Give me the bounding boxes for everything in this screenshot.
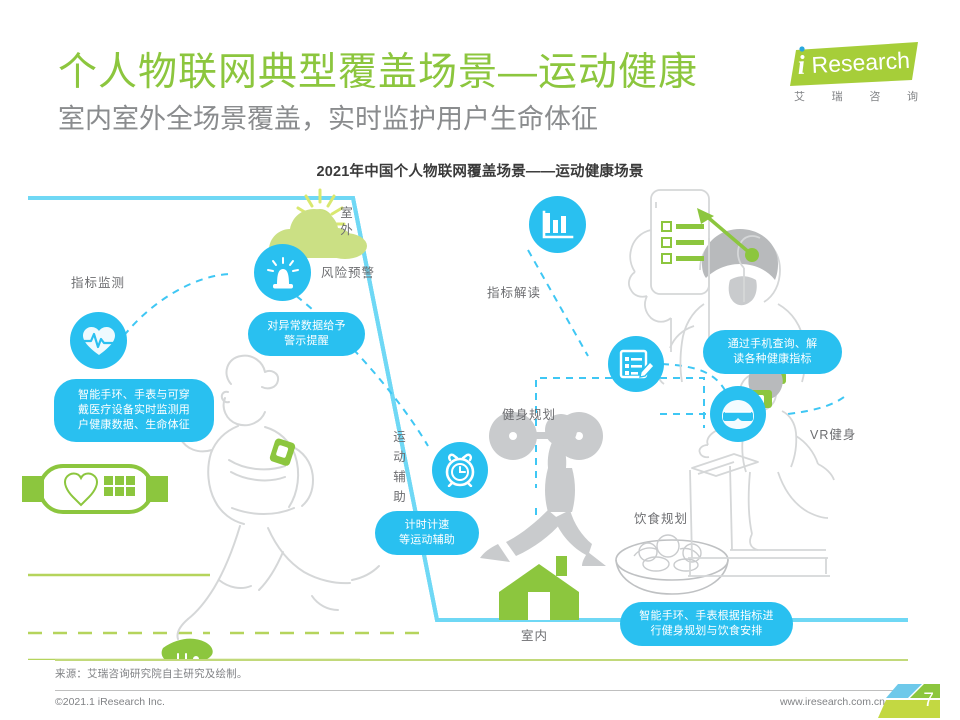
logo-cn-char-2: 瑞 [832,88,843,104]
callout-assist-text: 计时计速 等运动辅助 [399,518,455,548]
copyright-text: ©2021.1 iResearch Inc. [55,696,165,708]
label-vr-fitness: VR健身 [810,424,856,443]
alarm-light-icon [266,257,300,289]
bar-chart-icon [542,210,574,240]
label-zone-indoor: 室内 [521,625,548,644]
page-title: 个人物联网典型覆盖场景—运动健康 [58,50,698,96]
heart-pulse-icon [82,326,116,356]
track-lines [28,575,420,660]
logo-cn-char-3: 咨 [869,88,880,104]
page-header: 个人物联网典型覆盖场景—运动健康 室内室外全场景覆盖，实时监护用户生命体征 20… [0,0,960,165]
node-metric-interpretation[interactable] [529,196,586,253]
node-exercise-assist[interactable] [432,442,488,498]
logo-cn-char-4: 询 [907,88,918,104]
page-number: 7 [923,690,934,712]
weightlifter-figure [480,412,606,566]
label-zone-outdoor: 室 外 [338,205,356,239]
node-vr-fitness[interactable] [710,386,766,442]
label-exercise-assist: 运 动 辅 助 [389,430,406,510]
logo-chinese-name: 艾 瑞 咨 询 [794,88,918,104]
stopwatch-icon [443,453,477,487]
label-vitals-monitoring: 指标监测 [71,272,125,291]
callout-plan-note[interactable]: 智能手环、手表根据指标进 行健身规划与饮食安排 [620,602,793,646]
connector-plan-diet [660,378,704,428]
page-subtitle: 室内室外全场景覆盖，实时监护用户生命体征 [58,102,598,136]
label-fitness-planning: 健身规划 [502,404,556,423]
callout-assist-note[interactable]: 计时计速 等运动辅助 [375,511,479,555]
svg-text:Research: Research [811,47,911,78]
callout-interpret-text: 通过手机查询、解 读各种健康指标 [728,337,818,367]
callout-risk-text: 对异常数据给予 警示提醒 [267,319,345,349]
diagram-canvas: 智能手环、手表与可穿 戴医疗设备实时监测用 户健康数据、生命体征 对异常数据给予… [0,178,960,660]
connector-interpret-plan [528,250,588,356]
connector-vr-treadmill [788,394,848,414]
node-vitals-monitoring[interactable] [70,312,127,369]
logo-cn-char-1: 艾 [794,88,805,104]
node-risk-alert[interactable] [254,244,311,301]
callout-vitals-note[interactable]: 智能手环、手表与可穿 戴医疗设备实时监测用 户健康数据、生命体征 [54,379,214,442]
iresearch-logo: i Research 艾 瑞 咨 询 [790,42,920,108]
callout-plan-text: 智能手环、手表根据指标进 行健身规划与饮食安排 [639,609,773,639]
clipboard-edit-icon [619,348,653,380]
salad-bowl-icon [616,535,728,594]
source-note: 来源：艾瑞咨询研究院自主研究及绘制。 [55,666,248,681]
callout-vitals-text: 智能手环、手表与可穿 戴医疗设备实时监测用 户健康数据、生命体征 [78,388,190,433]
logo-mark-icon: i Research [790,42,920,88]
source-divider [55,659,908,661]
house-icon [499,556,579,620]
vr-goggles-icon [721,398,755,430]
node-fitness-planning[interactable] [608,336,664,392]
label-metric-interpretation: 指标解读 [487,282,541,301]
label-risk-alert: 风险预警 [321,262,375,281]
chest-strap-device [22,466,168,512]
phone-list-rows [662,222,704,263]
callout-interpret-note[interactable]: 通过手机查询、解 读各种健康指标 [703,330,842,374]
website-url[interactable]: www.iresearch.com.cn [780,696,885,708]
connector-vitals-risk [116,274,232,346]
footer-divider [55,690,908,691]
label-diet-planning: 饮食规划 [634,508,688,527]
callout-risk-note[interactable]: 对异常数据给予 警示提醒 [248,312,365,356]
